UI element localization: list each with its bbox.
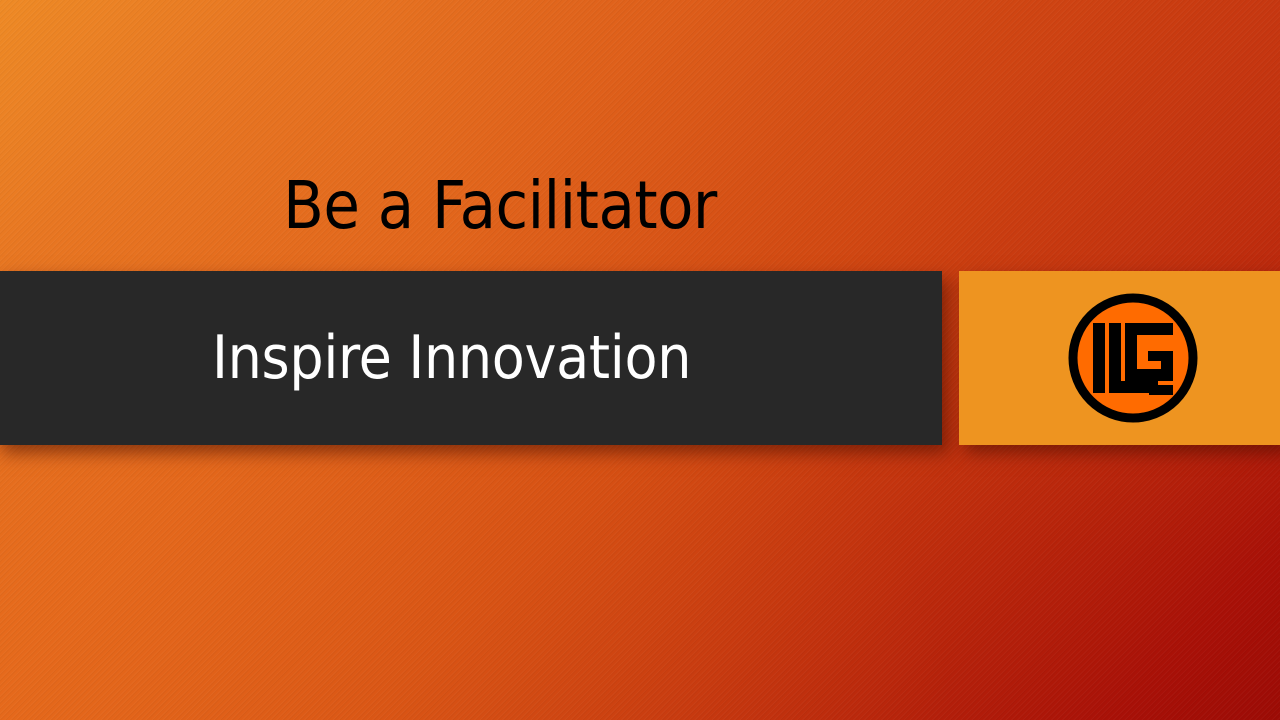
ilg-logo-icon: [1068, 293, 1198, 423]
logo-dot: [1149, 385, 1173, 395]
logo-container: [1068, 293, 1198, 423]
presentation-slide: Be a Facilitator Inspire Innovation: [0, 0, 1280, 720]
slide-title: Be a Facilitator: [0, 158, 1000, 254]
subtitle-banner: Inspire Innovation: [0, 271, 942, 445]
logo-letter-i: [1093, 323, 1105, 393]
logo-letter-g: [1125, 323, 1173, 381]
slide-subtitle: Inspire Innovation: [212, 323, 691, 393]
logo-panel: [959, 271, 1280, 445]
